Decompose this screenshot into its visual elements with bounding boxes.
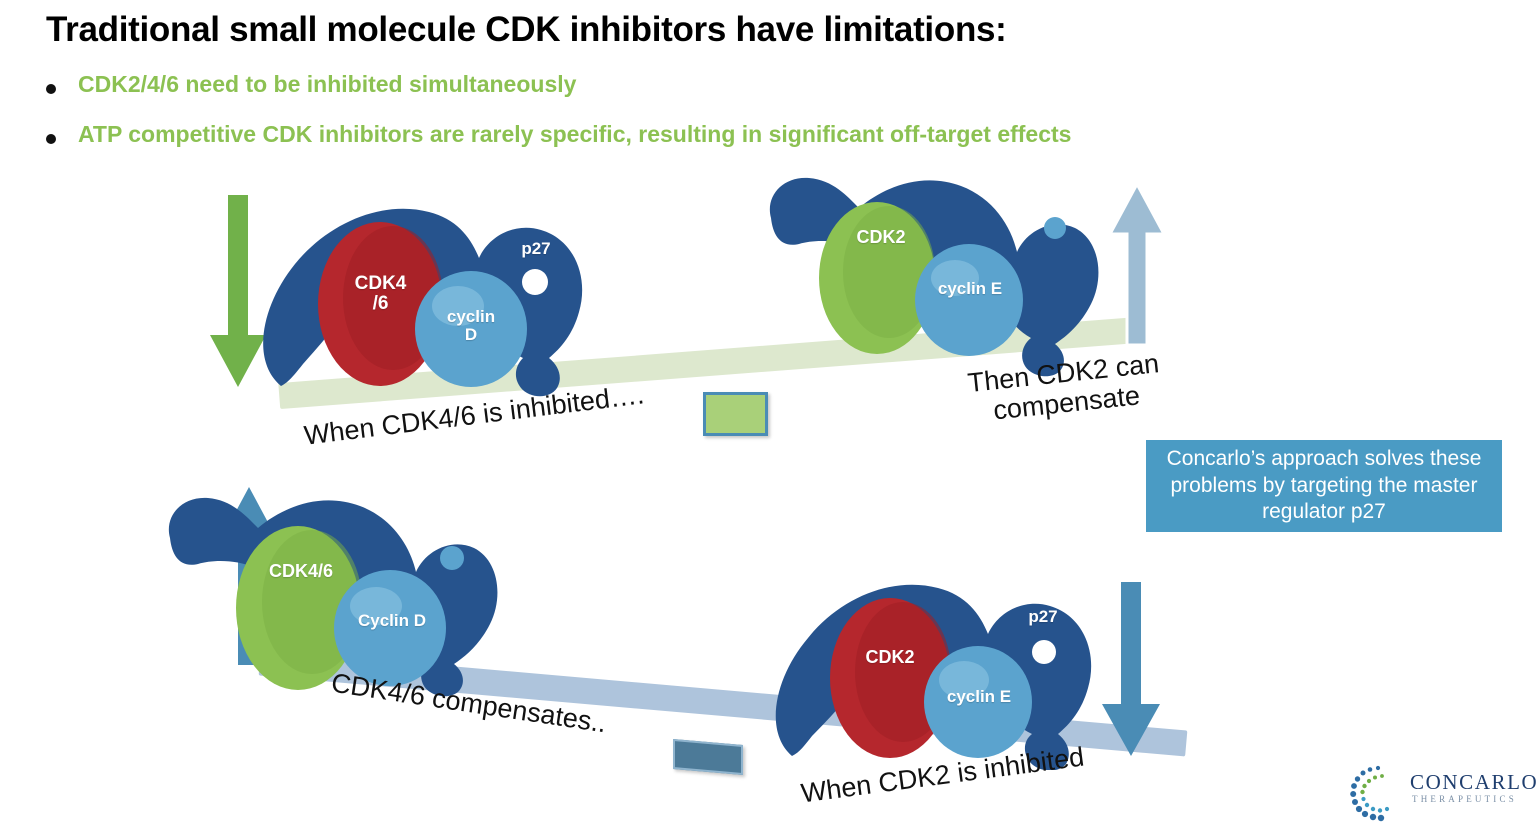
- page-title: Traditional small molecule CDK inhibitor…: [46, 10, 1007, 50]
- logo-wordmark: CONCARLO: [1410, 770, 1536, 795]
- bullet-text-2: ATP competitive CDK inhibitors are rarel…: [78, 122, 1071, 147]
- seesaw-fulcrum-bottom: [673, 739, 743, 775]
- protein-complex-cdk2-active: CDK2 cyclin E: [755, 160, 1105, 385]
- protein-complex-cdk46-inhibited: CDK4 /6 cyclin D p27: [243, 186, 603, 406]
- logo-subwordmark: THERAPEUTICS: [1412, 794, 1517, 804]
- callout-text: Concarlo’s approach solves these problem…: [1158, 446, 1490, 525]
- bullet-item-2: ATP competitive CDK inhibitors are rarel…: [46, 122, 1071, 147]
- p27-binding-site-dot: [1032, 640, 1056, 664]
- callout-box: Concarlo’s approach solves these problem…: [1146, 440, 1502, 532]
- concarlo-arc-icon: [1348, 762, 1418, 824]
- bullet-item-1: CDK2/4/6 need to be inhibited simultaneo…: [46, 72, 576, 97]
- company-logo: CONCARLO THERAPEUTICS: [1348, 762, 1526, 824]
- bullet-dot-icon: [46, 134, 56, 144]
- seesaw-fulcrum-top: [703, 392, 768, 436]
- p27-binding-site-dot: [522, 269, 548, 295]
- arrow-up-pale-blue-icon: [1108, 182, 1166, 352]
- bullet-text-1: CDK2/4/6 need to be inhibited simultaneo…: [78, 72, 576, 97]
- protein-complex-cdk46-active: CDK4/6 Cyclin D: [150, 480, 510, 705]
- protein-complex-cdk2-inhibited: CDK2 cyclin E p27: [760, 560, 1110, 775]
- bullet-dot-icon: [46, 84, 56, 94]
